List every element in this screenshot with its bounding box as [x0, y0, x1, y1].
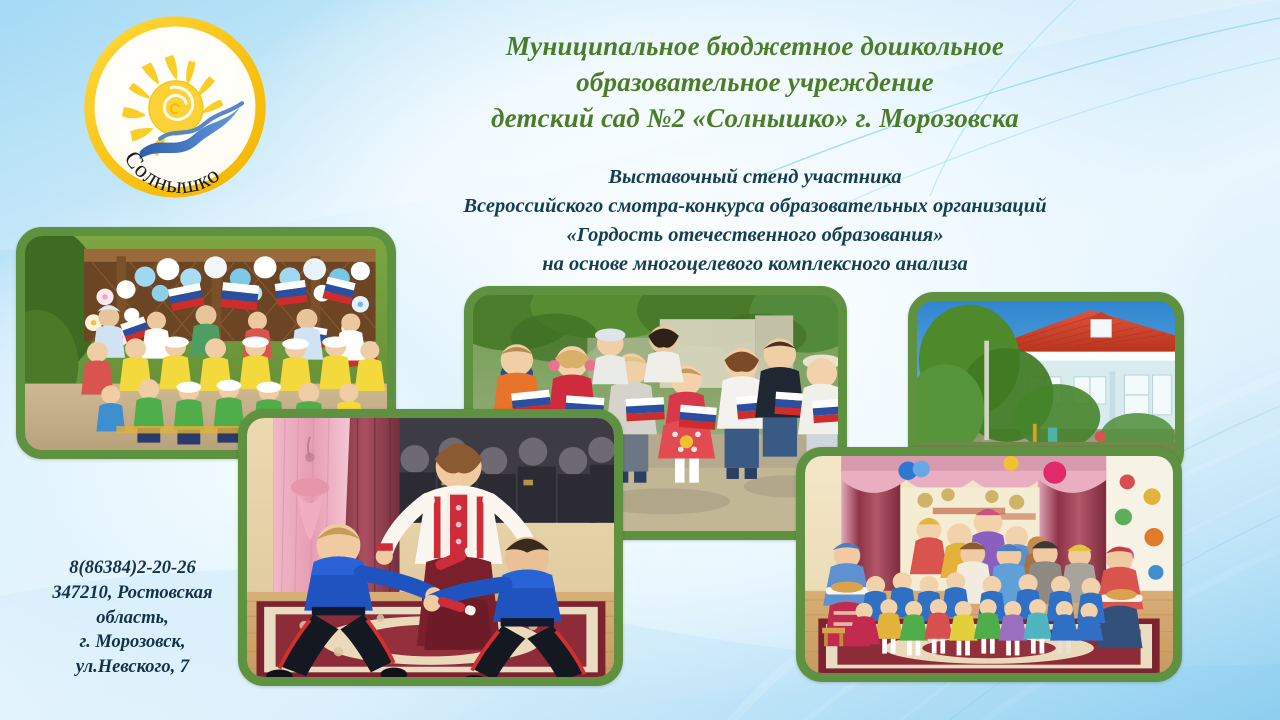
subtitle-line-2: Всероссийского смотра-конкурса образоват…: [360, 192, 1150, 221]
contact-address-line-4: ул.Невского, 7: [10, 655, 255, 680]
page-subtitle: Выставочный стенд участника Всероссийско…: [360, 163, 1150, 279]
title-line-3: детский сад №2 «Солнышко» г. Морозовска: [370, 100, 1140, 136]
subtitle-line-4: на основе многоцелевого комплексного ана…: [360, 250, 1150, 279]
photo-kindergarten-building: [917, 301, 1175, 469]
photo-cossack-dance: [247, 418, 614, 677]
photo-frame-cossack-dance: [238, 409, 623, 686]
title-line-2: образовательное учреждение: [370, 64, 1140, 100]
title-line-1: Муниципальное бюджетное дошкольное: [370, 28, 1140, 64]
contact-address-line-3: г. Морозовск,: [10, 630, 255, 655]
solnyshko-logo: Солнышко: [82, 14, 268, 200]
subtitle-line-1: Выставочный стенд участника: [360, 163, 1150, 192]
page-title: Муниципальное бюджетное дошкольное образ…: [370, 28, 1140, 137]
photo-maslenitsa-celebration: [805, 456, 1173, 673]
contact-phone: 8(86384)2-20-26: [10, 556, 255, 581]
contact-info: 8(86384)2-20-26 347210, Ростовская облас…: [10, 556, 255, 680]
contact-address-line-2: область,: [10, 606, 255, 631]
poster-canvas: Солнышко Муниципальное бюджетное дошколь…: [0, 0, 1280, 720]
subtitle-line-3: «Гордость отечественного образования»: [360, 221, 1150, 250]
contact-address-line-1: 347210, Ростовская: [10, 581, 255, 606]
sun-spiral: [149, 81, 203, 135]
photo-frame-maslenitsa-celebration: [796, 447, 1182, 682]
